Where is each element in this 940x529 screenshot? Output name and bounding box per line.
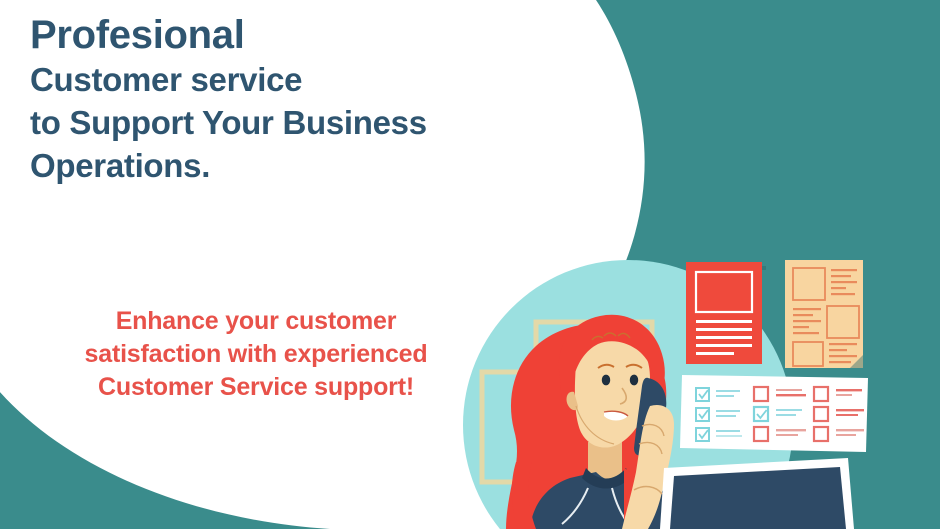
cream-poster: [785, 260, 863, 368]
headline-line-4: Operations.: [30, 144, 590, 187]
headline-line-2: Customer service: [30, 58, 590, 101]
headline-line-3: to Support Your Business: [30, 101, 590, 144]
headline-line-1: Profesional: [30, 12, 590, 58]
eye-left: [602, 375, 610, 386]
banner-canvas: Profesional Customer service to Support …: [0, 0, 940, 529]
checklist-paper: [680, 375, 868, 452]
eye-right: [630, 375, 638, 386]
red-poster: [686, 262, 766, 364]
laptop-screen: [670, 467, 846, 529]
illustration-art: [410, 230, 940, 529]
laptop: [660, 458, 854, 529]
illustration-scene: [410, 230, 940, 529]
headline-block: Profesional Customer service to Support …: [30, 12, 590, 187]
